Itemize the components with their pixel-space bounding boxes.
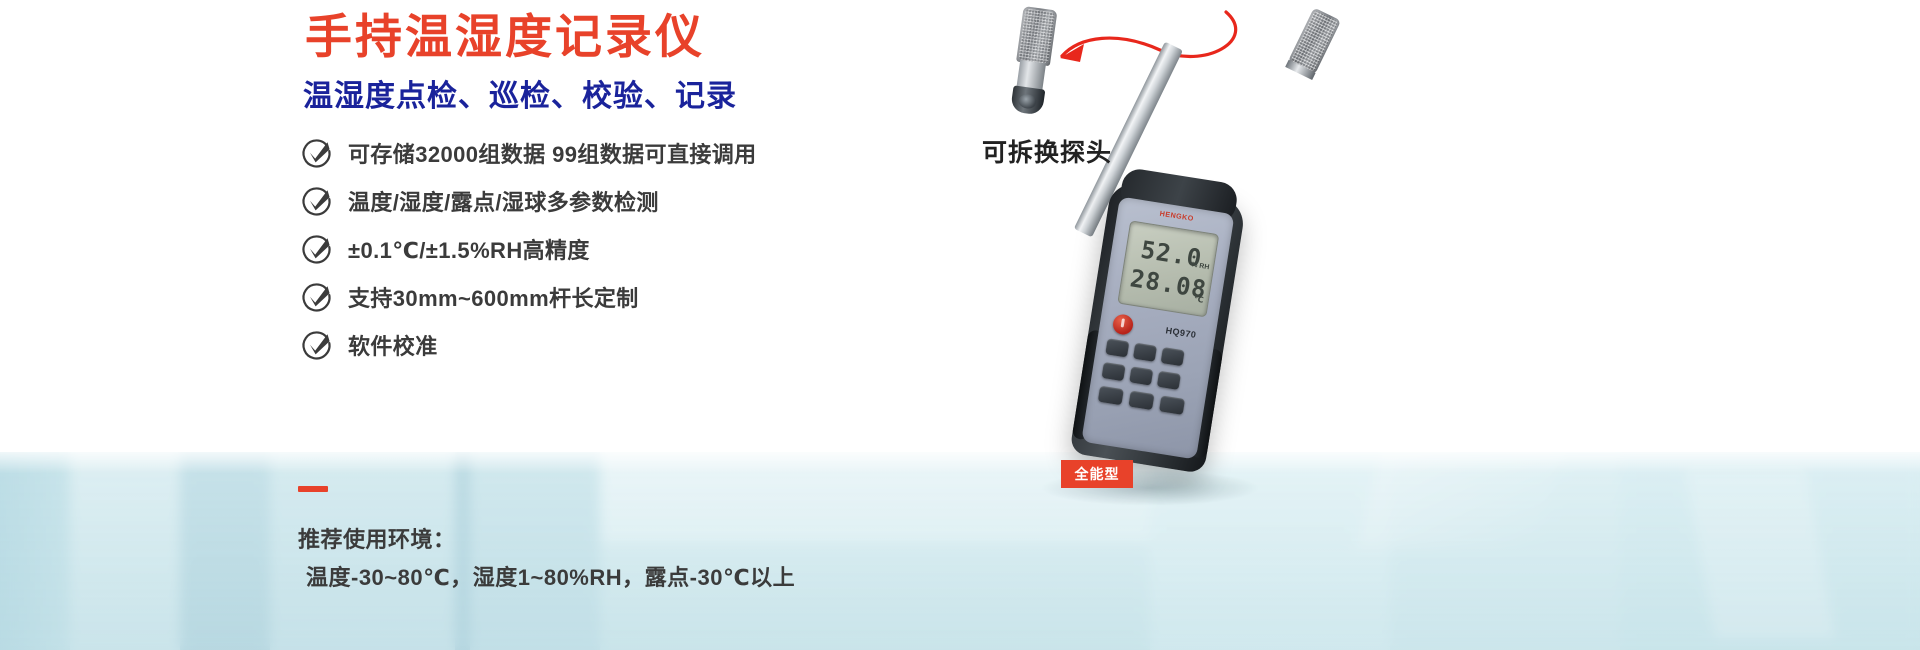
curved-arrow-icon — [990, 0, 1250, 120]
recommendation-title: 推荐使用环境： — [298, 522, 456, 554]
mounted-probe — [1245, 1, 1356, 144]
key-unit[interactable] — [1133, 343, 1157, 362]
lcd-temperature-unit: ℃ — [1193, 294, 1204, 304]
probe-label: 可拆换探头 — [982, 133, 1112, 169]
power-button[interactable] — [1112, 313, 1135, 336]
key-minmax[interactable] — [1105, 338, 1129, 357]
check-circle-icon — [300, 184, 334, 218]
feature-text: 可存储32000组数据 99组数据可直接调用 — [348, 137, 757, 169]
key-func[interactable] — [1159, 395, 1185, 415]
model-label: HQ970 — [1165, 325, 1197, 340]
key-hold[interactable] — [1161, 347, 1185, 366]
lcd-screen: 52.0 % RH 28.08 ℃ — [1117, 220, 1219, 317]
brand-logo: HENGKO — [1159, 209, 1194, 222]
key-recall[interactable] — [1128, 391, 1154, 411]
check-circle-icon — [300, 136, 334, 170]
feature-text: 支持30mm~600mm杆长定制 — [348, 281, 639, 313]
status-badge: 全能型 — [1061, 460, 1133, 488]
feature-text: 温度/湿度/露点/湿球多参数检测 — [348, 185, 659, 217]
key-rec[interactable] — [1101, 362, 1125, 381]
page-subtitle: 温湿度点检、巡检、校验、记录 — [303, 78, 737, 116]
feature-text: ±0.1℃/±1.5%RH高精度 — [348, 233, 590, 265]
feature-text: 软件校准 — [348, 329, 438, 361]
check-circle-icon — [300, 232, 334, 266]
check-circle-icon — [300, 280, 334, 314]
accent-dash — [298, 486, 328, 492]
keypad — [1091, 338, 1205, 448]
key-up[interactable] — [1129, 366, 1153, 385]
key-down[interactable] — [1157, 371, 1181, 390]
page-title: 手持温湿度记录仪 — [305, 8, 705, 66]
recommendation-line: 温度-30~80℃，湿度1~80%RH，露点-30℃以上 — [306, 560, 795, 592]
key-save[interactable] — [1098, 386, 1124, 406]
check-circle-icon — [300, 328, 334, 362]
product-banner: 手持温湿度记录仪 温湿度点检、巡检、校验、记录 可存储32000组数据 99组数… — [0, 0, 1920, 650]
